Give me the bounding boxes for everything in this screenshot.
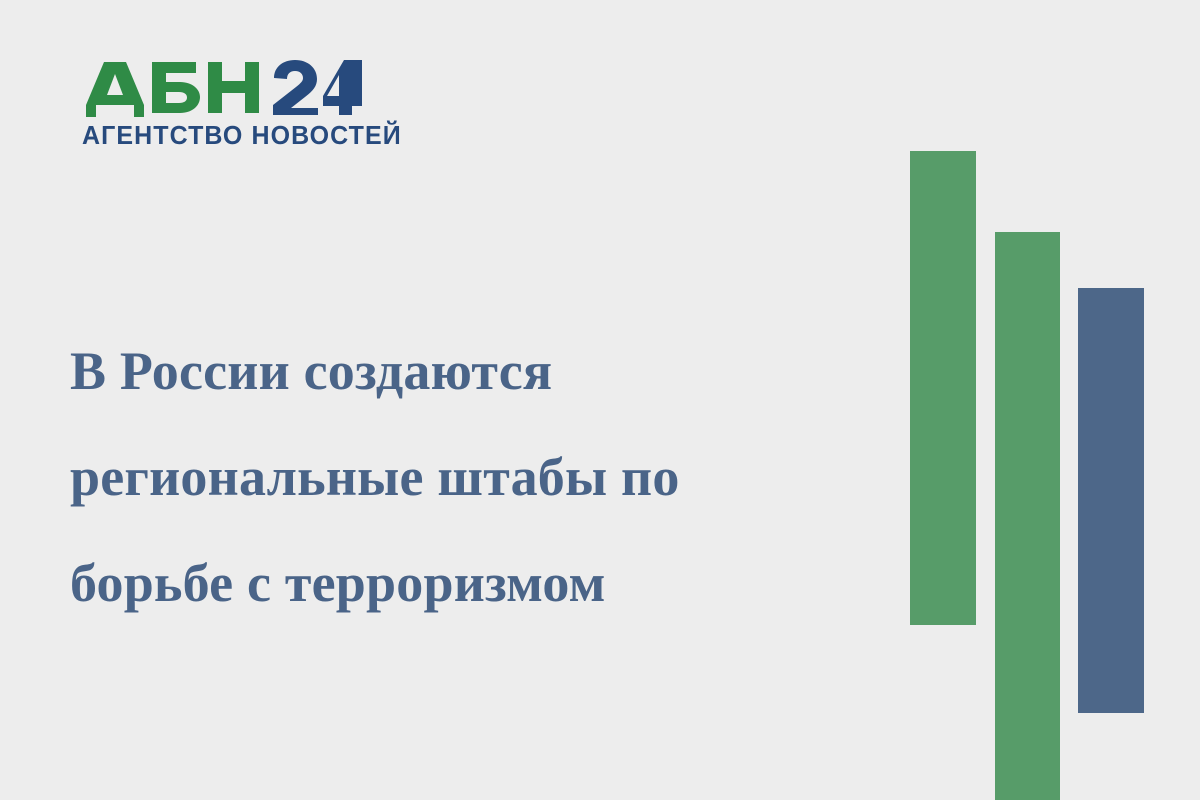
- headline: В России создаются региональные штабы по…: [70, 318, 870, 636]
- headline-line-1: В России создаются: [70, 318, 870, 424]
- headline-line-3: борьбе с терроризмом: [70, 530, 870, 636]
- decorative-bar-1: [910, 151, 976, 625]
- headline-line-2: региональные штабы по: [70, 424, 870, 530]
- logo-wordmark-icon: [82, 58, 364, 118]
- decorative-bar-3: [1078, 288, 1144, 713]
- decorative-bar-2: [995, 232, 1060, 800]
- news-card: АГЕНТСТВО НОВОСТЕЙ В России создаются ре…: [0, 0, 1200, 800]
- logo[interactable]: АГЕНТСТВО НОВОСТЕЙ: [82, 58, 382, 150]
- logo-tagline: АГЕНТСТВО НОВОСТЕЙ: [82, 124, 376, 150]
